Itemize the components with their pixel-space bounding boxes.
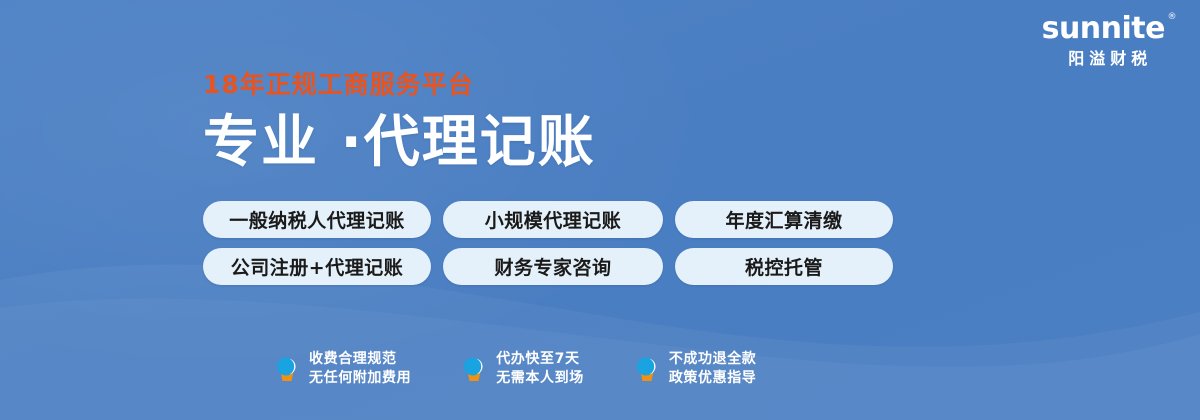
service-pill[interactable]: 公司注册+代理记账: [203, 248, 431, 285]
service-pill[interactable]: 财务专家咨询: [443, 248, 663, 285]
brand-logo[interactable]: sunnite ® 阳溢财税: [1042, 14, 1174, 67]
hero-text-block: 18年正规工商服务平台 专业 ·代理记账: [203, 72, 596, 173]
feature-line-2: 无任何附加费用: [309, 371, 411, 386]
service-pill[interactable]: 一般纳税人代理记账: [203, 201, 431, 238]
circle-crescent-icon: [461, 354, 487, 384]
feature-text-block: 收费合理规范 无任何附加费用: [309, 352, 411, 387]
feature-strip: 收费合理规范 无任何附加费用 代办快至7天 无需本人到场 不成功退全款: [274, 352, 756, 387]
feature-item: 收费合理规范 无任何附加费用: [274, 352, 411, 387]
feature-text-block: 不成功退全款 政策优惠指导: [669, 352, 757, 387]
circle-crescent-icon: [634, 354, 660, 384]
registered-trademark-icon: ®: [1168, 13, 1177, 22]
hero-title: 专业 ·代理记账: [203, 114, 596, 173]
logo-chinese-name: 阳溢财税: [1042, 51, 1174, 67]
service-pill[interactable]: 年度汇算清缴: [675, 201, 893, 238]
logo-wordmark-text: sunnite: [1042, 11, 1165, 46]
promo-banner: sunnite ® 阳溢财税 18年正规工商服务平台 专业 ·代理记账 一般纳税…: [0, 0, 1200, 420]
service-pill[interactable]: 小规模代理记账: [443, 201, 663, 238]
feature-line-1: 收费合理规范: [309, 352, 411, 367]
circle-crescent-icon: [274, 354, 300, 384]
feature-text-block: 代办快至7天 无需本人到场: [496, 352, 584, 387]
feature-item: 代办快至7天 无需本人到场: [461, 352, 584, 387]
feature-line-2: 政策优惠指导: [669, 371, 757, 386]
service-pill-grid: 一般纳税人代理记账 小规模代理记账 年度汇算清缴 公司注册+代理记账 财务专家咨…: [203, 201, 893, 285]
feature-line-1: 代办快至7天: [496, 352, 584, 367]
feature-item: 不成功退全款 政策优惠指导: [634, 352, 757, 387]
service-pill[interactable]: 税控托管: [675, 248, 893, 285]
feature-line-1: 不成功退全款: [669, 352, 757, 367]
hero-eyebrow: 18年正规工商服务平台: [203, 72, 596, 97]
logo-wordmark: sunnite ®: [1042, 14, 1174, 44]
feature-line-2: 无需本人到场: [496, 371, 584, 386]
